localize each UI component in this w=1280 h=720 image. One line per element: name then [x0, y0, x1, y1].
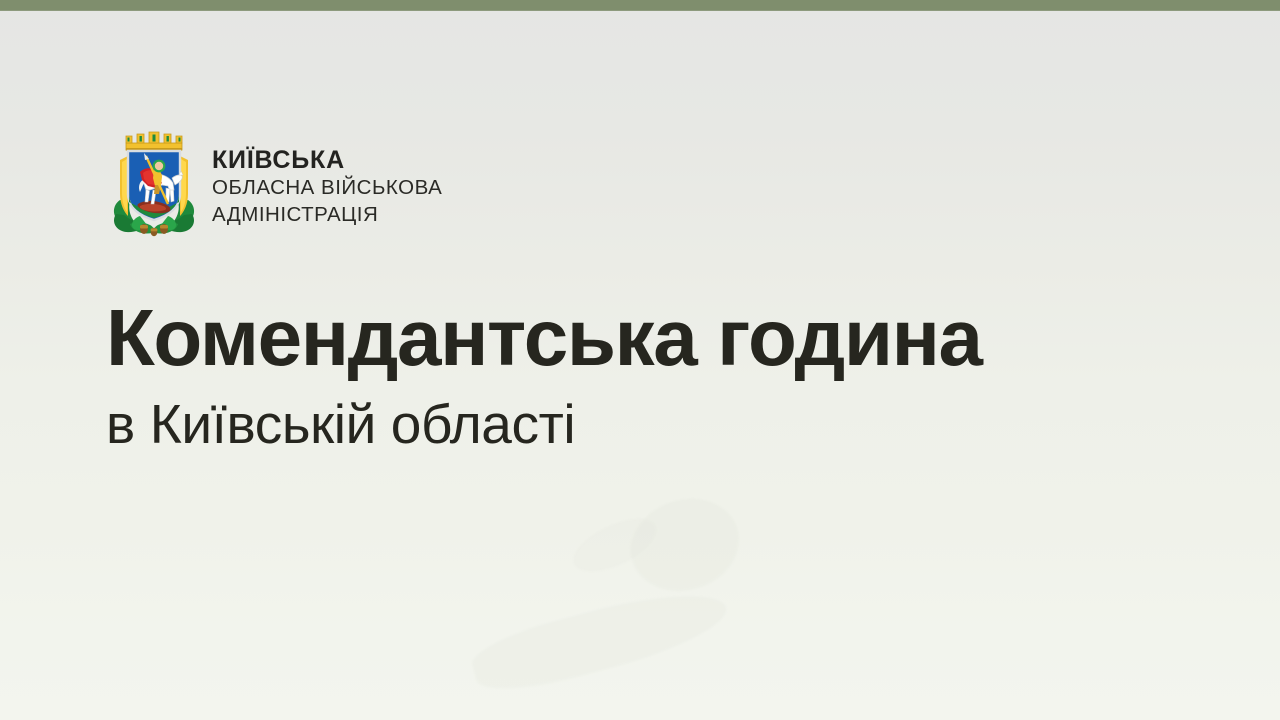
page-subtitle: в Київській області: [106, 395, 1166, 454]
slide-canvas: КИЇВСЬКА ОБЛАСНА ВІЙСЬКОВА АДМІНІСТРАЦІЯ…: [0, 0, 1280, 720]
logo-line-oblasna-viyskova: ОБЛАСНА ВІЙСЬКОВА: [212, 174, 442, 201]
top-accent-band: [0, 0, 1280, 11]
logo-line-kyivska: КИЇВСЬКА: [212, 146, 442, 174]
page-title: Комендантська година: [106, 296, 1166, 379]
watermark-shape-a: [619, 485, 751, 605]
logo-line-administratsiya: АДМІНІСТРАЦІЯ: [212, 201, 442, 228]
organization-logo-lockup: КИЇВСЬКА ОБЛАСНА ВІЙСЬКОВА АДМІНІСТРАЦІЯ: [110, 128, 442, 238]
kyiv-oblast-coat-of-arms-icon: [110, 128, 198, 238]
headline-block: Комендантська година в Київській області: [106, 296, 1166, 455]
background-watermark-texture: [430, 470, 860, 700]
watermark-shape-b: [467, 577, 734, 702]
watermark-shape-c: [566, 508, 664, 582]
organization-name-text: КИЇВСЬКА ОБЛАСНА ВІЙСЬКОВА АДМІНІСТРАЦІЯ: [212, 128, 442, 228]
